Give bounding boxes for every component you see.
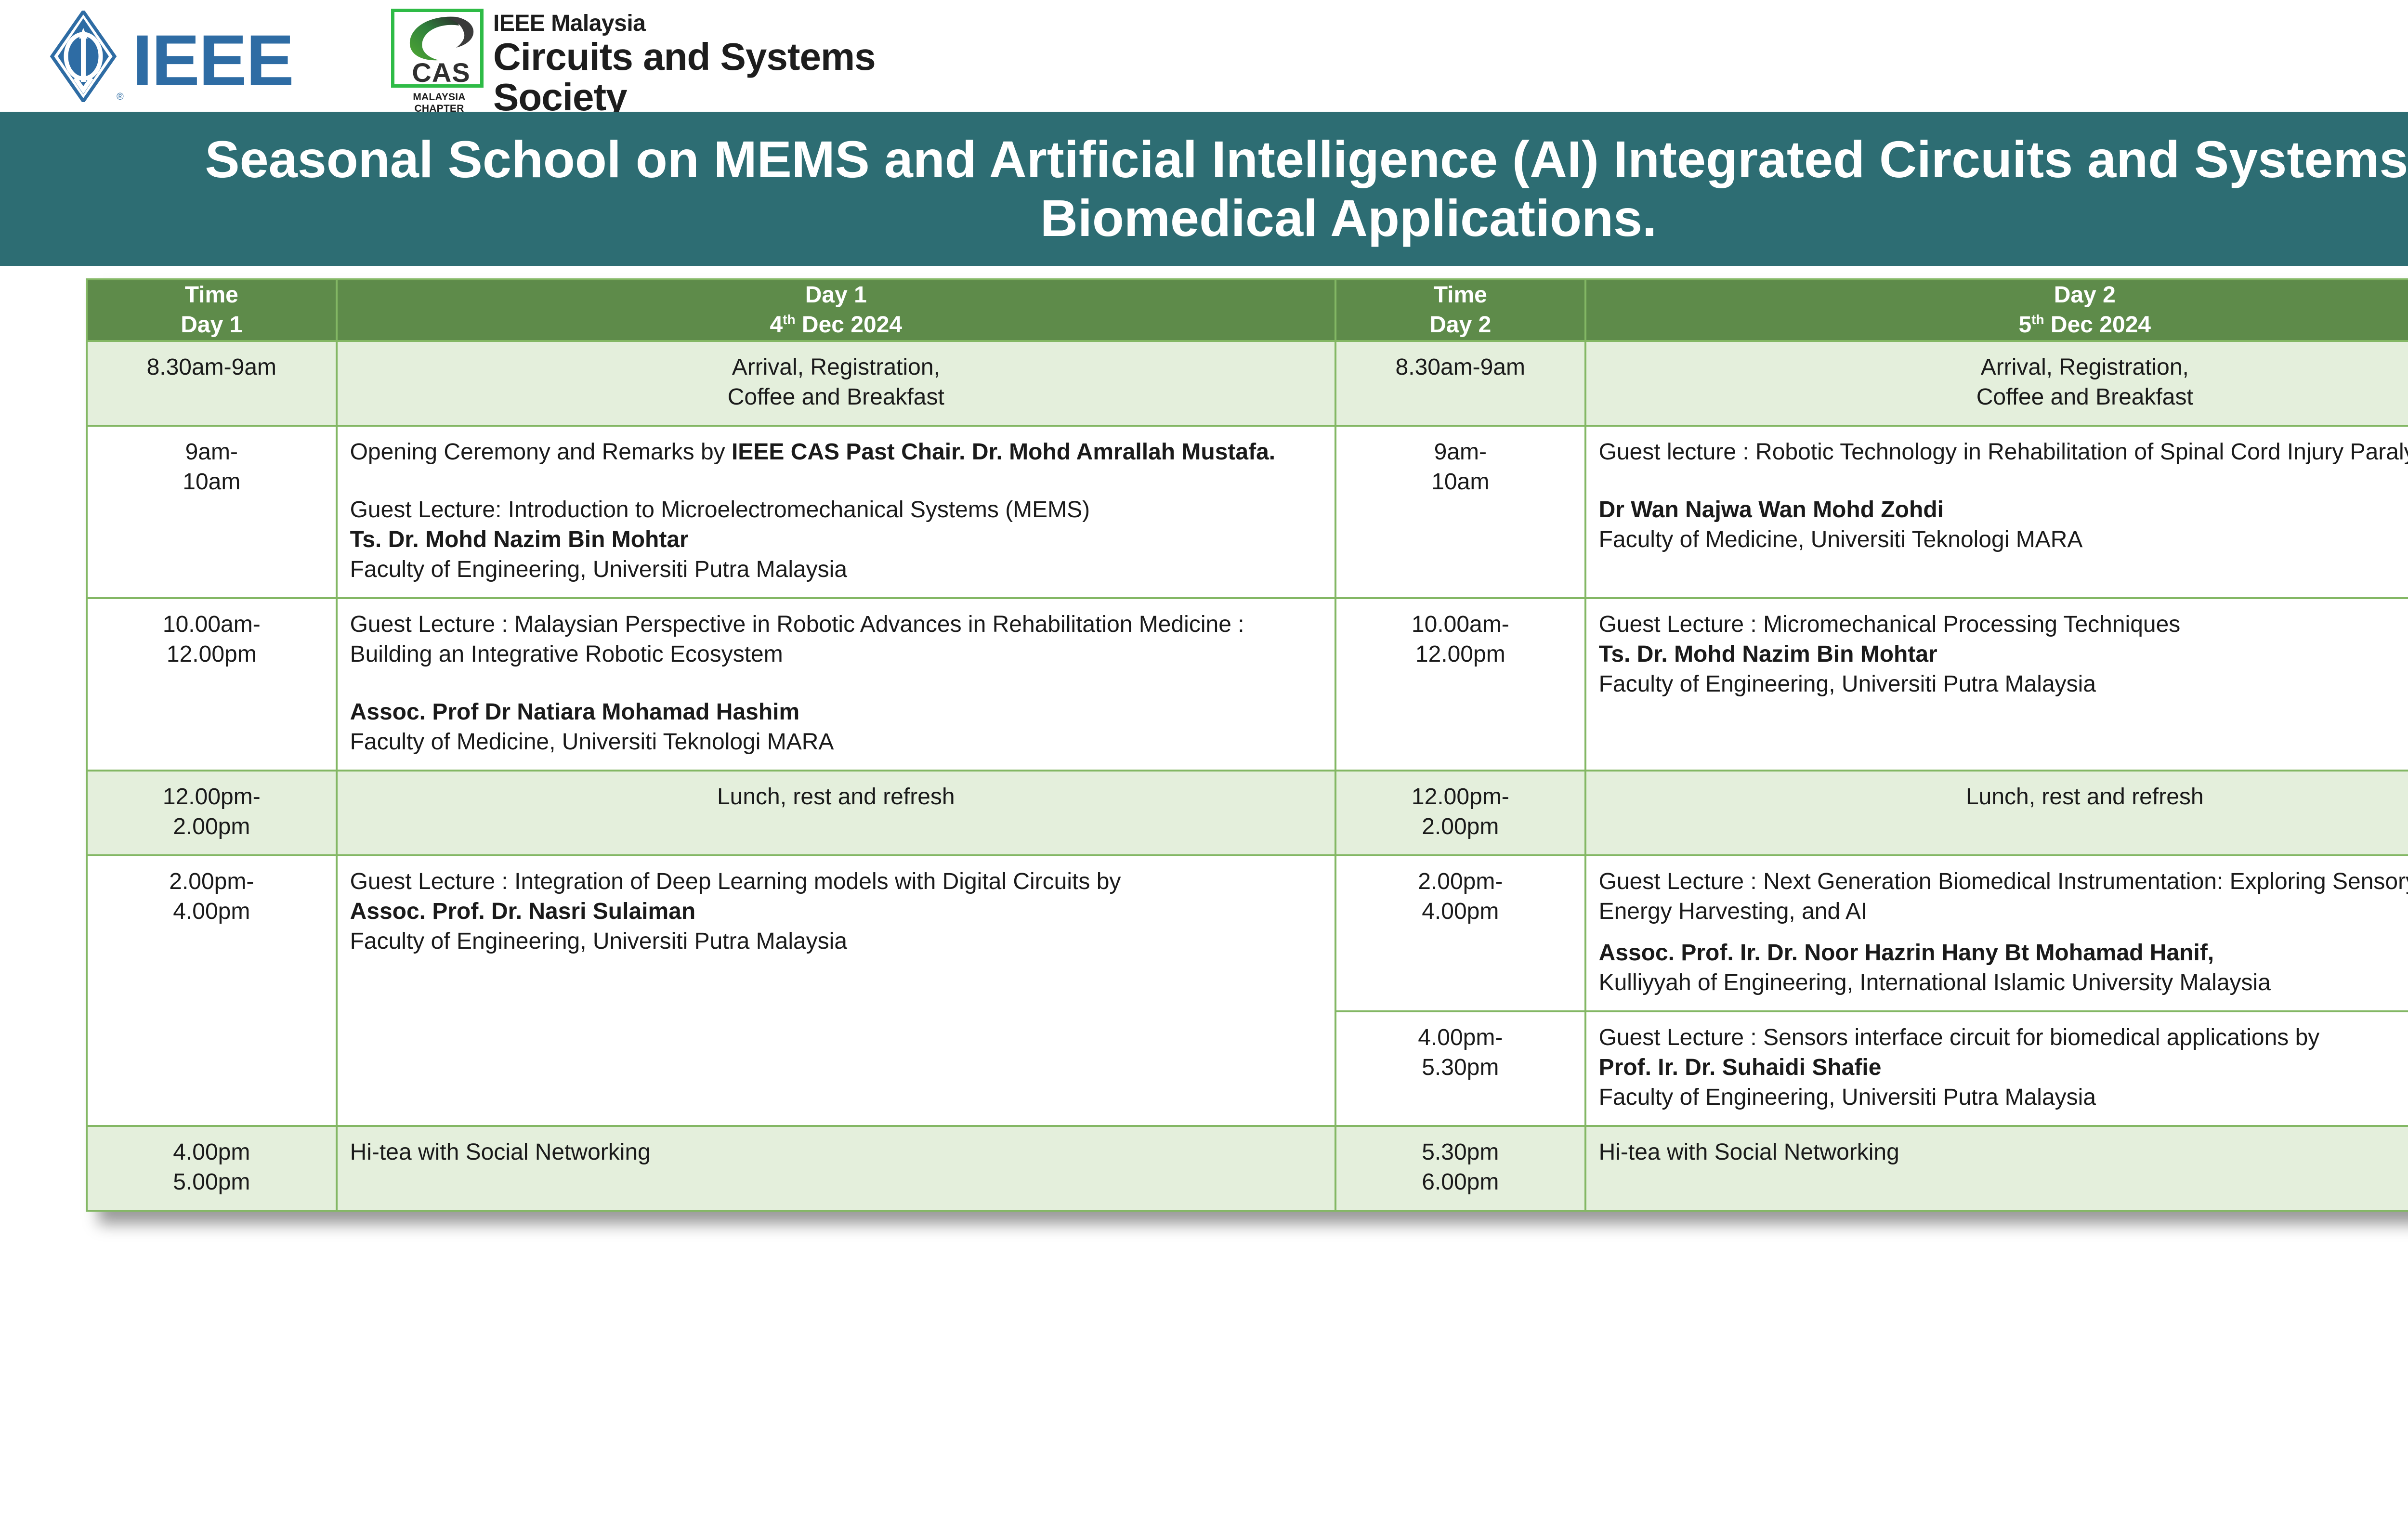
afternoon-day2-slot2-lecture-plain: Guest Lecture : Sensors interface circui… — [1599, 1025, 2320, 1050]
spacer — [350, 467, 1322, 495]
afternoon-day1-affiliation: Faculty of Engineering, Universiti Putra… — [350, 929, 847, 954]
afternoon-day2-slot2-speaker: Prof. Ir. Dr. Suhaidi Shafie — [1599, 1055, 1882, 1080]
cell-hitea-day2-body: Hi-tea with Social Networking — [1585, 1126, 2408, 1211]
cell-hitea-day1-body: Hi-tea with Social Networking — [337, 1126, 1335, 1211]
header-day2-date-num: 5 — [2018, 312, 2031, 338]
slot-9-10-day1-speaker: Ts. Dr. Mohd Nazim Bin Mohtar — [350, 527, 689, 552]
header-day1-date-rest: Dec 2024 — [796, 312, 903, 338]
cas-chapter-label: MALAYSIA CHAPTER — [391, 92, 487, 115]
spacer — [1599, 927, 2408, 938]
afternoon-day1-time-line1: 2.00pm- — [169, 869, 254, 894]
cas-logo-block: CAS MALAYSIA CHAPTER IEEE Malaysia Circu… — [391, 9, 1008, 105]
afternoon-day1-time-line2: 4.00pm — [173, 899, 250, 924]
cell-10-12-day1-time: 10.00am- 12.00pm — [87, 598, 337, 771]
opening-ceremony-speaker: IEEE CAS Past Chair. Dr. Mohd Amrallah M… — [732, 439, 1275, 465]
header-day2-date-rest: Dec 2024 — [2044, 312, 2151, 338]
slot-10-12-day2-time-line1: 10.00am- — [1412, 612, 1509, 637]
slot-9-10-day1-time: 9am- 10am — [88, 427, 336, 510]
afternoon-day2-slot2-time: 4.00pm- 5.30pm — [1336, 1012, 1584, 1095]
header-time-day1-line1: Time — [185, 282, 238, 308]
table-row-hitea: 4.00pm 5.00pm Hi-tea with Social Network… — [87, 1126, 2408, 1211]
cas-swoosh-icon — [402, 15, 479, 62]
header-time-day2-line1: Time — [1434, 282, 1487, 308]
slot-9-10-day1-lecture-title: Guest Lecture: Introduction to Microelec… — [350, 497, 1090, 523]
afternoon-day2-slot2-content: Guest Lecture : Sensors interface circui… — [1586, 1012, 2408, 1125]
table-row-9-10: 9am- 10am Opening Ceremony and Remarks b… — [87, 426, 2408, 598]
afternoon-day2-slot1-affiliation: Kulliyyah of Engineering, International … — [1599, 970, 2271, 995]
afternoon-day1-lecture-plain: Guest Lecture : Integration of Deep Lear… — [350, 869, 1121, 894]
slot-10-12-day2-time: 10.00am- 12.00pm — [1336, 599, 1584, 682]
arrival-day2-time: 8.30am-9am — [1336, 342, 1584, 395]
cell-10-12-day2-body: Guest Lecture : Micromechanical Processi… — [1585, 598, 2408, 771]
hitea-day2-time: 5.30pm 6.00pm — [1336, 1127, 1584, 1210]
table-row-arrival: 8.30am-9am Arrival, Registration, Coffee… — [87, 341, 2408, 426]
cell-9-10-day1-time: 9am- 10am — [87, 426, 337, 598]
slot-10-12-day2-time-line2: 12.00pm — [1415, 641, 1505, 667]
afternoon-day2-slot2-time-line2: 5.30pm — [1422, 1055, 1499, 1080]
arrival-day2-line2: Coffee and Breakfast — [1976, 384, 2193, 410]
arrival-day1-line1: Arrival, Registration, — [732, 354, 940, 380]
slot-9-10-day2-lecture-title: Guest lecture : Robotic Technology in Re… — [1599, 439, 2408, 465]
cell-afternoon-day2-slot1-body: Guest Lecture : Next Generation Biomedic… — [1585, 855, 2408, 1011]
slot-10-12-day1-lecture-title: Guest Lecture : Malaysian Perspective in… — [350, 612, 1244, 667]
afternoon-day2-slot1-speaker: Assoc. Prof. Ir. Dr. Noor Hazrin Hany Bt… — [1599, 940, 2214, 966]
society-line-1: IEEE Malaysia — [493, 12, 645, 36]
cell-10-12-day2-time: 10.00am- 12.00pm — [1335, 598, 1585, 771]
afternoon-day2-slot1-content: Guest Lecture : Next Generation Biomedic… — [1586, 856, 2408, 1010]
slot-9-10-day1-content: Opening Ceremony and Remarks by IEEE CAS… — [338, 427, 1335, 597]
hitea-day1-text: Hi-tea with Social Networking — [338, 1127, 1335, 1180]
spacer — [1599, 467, 2408, 495]
slot-9-10-day2-affiliation: Faculty of Medicine, Universiti Teknolog… — [1599, 527, 2083, 552]
slot-9-10-day2-time-line2: 10am — [1431, 469, 1489, 495]
afternoon-day1-time: 2.00pm- 4.00pm — [88, 856, 336, 939]
slot-9-10-day2-time-line1: 9am- — [1434, 439, 1487, 465]
arrival-day2-line1: Arrival, Registration, — [1981, 354, 2189, 380]
header-time-day1-line2: Day 1 — [181, 312, 242, 338]
ieee-diamond-icon — [38, 11, 129, 102]
lunch-day1-time: 12.00pm- 2.00pm — [88, 772, 336, 854]
cell-afternoon-day2-slot1-time: 2.00pm- 4.00pm — [1335, 855, 1585, 1011]
poster-page: IEEE ® CAS MALAYSIA CH — [0, 0, 2408, 1517]
slot-10-12-day1-affiliation: Faculty of Medicine, Universiti Teknolog… — [350, 729, 834, 755]
header-day2-date-sup: th — [2031, 312, 2044, 327]
afternoon-day2-slot1-time-line1: 2.00pm- — [1418, 869, 1503, 894]
cas-wordmark: CAS — [398, 59, 484, 86]
cell-9-10-day2-body: Guest lecture : Robotic Technology in Re… — [1585, 426, 2408, 598]
header-time-day1: Time Day 1 — [87, 279, 337, 341]
cell-afternoon-day1-body: Guest Lecture : Integration of Deep Lear… — [337, 855, 1335, 1126]
slot-10-12-day1-speaker: Assoc. Prof Dr Natiara Mohamad Hashim — [350, 699, 800, 725]
table-header-row: Time Day 1 Day 1 4th Dec 2024 Time Day 2… — [87, 279, 2408, 341]
cell-lunch-day2-body: Lunch, rest and refresh — [1585, 771, 2408, 855]
cell-afternoon-day2-slot2-time: 4.00pm- 5.30pm — [1335, 1011, 1585, 1126]
slot-9-10-day1-time-line1: 9am- — [185, 439, 238, 465]
table-row-afternoon-slot1: 2.00pm- 4.00pm Guest Lecture : Integrati… — [87, 855, 2408, 1011]
slot-9-10-day2-time: 9am- 10am — [1336, 427, 1584, 510]
cell-lunch-day1-time: 12.00pm- 2.00pm — [87, 771, 337, 855]
ieee-logo: IEEE ® — [29, 11, 356, 102]
slot-9-10-day2-content: Guest lecture : Robotic Technology in Re… — [1586, 427, 2408, 567]
society-line-2: Circuits and Systems Society — [493, 37, 1008, 118]
cell-arrival-day2-time: 8.30am-9am — [1335, 341, 1585, 426]
ieee-wordmark: IEEE — [132, 24, 293, 96]
lunch-day2-time: 12.00pm- 2.00pm — [1336, 772, 1584, 854]
header-time-day2-line2: Day 2 — [1429, 312, 1491, 338]
header-day2: Day 2 5th Dec 2024 — [1585, 279, 2408, 341]
cell-hitea-day1-time: 4.00pm 5.00pm — [87, 1126, 337, 1211]
header-time-day2: Time Day 2 — [1335, 279, 1585, 341]
header-day1: Day 1 4th Dec 2024 — [337, 279, 1335, 341]
hitea-day2-time-line2: 6.00pm — [1422, 1169, 1499, 1195]
afternoon-day2-slot1-time: 2.00pm- 4.00pm — [1336, 856, 1584, 939]
lunch-day1-text: Lunch, rest and refresh — [338, 772, 1335, 824]
table-row-10-12: 10.00am- 12.00pm Guest Lecture : Malaysi… — [87, 598, 2408, 771]
cell-hitea-day2-time: 5.30pm 6.00pm — [1335, 1126, 1585, 1211]
slot-10-12-day2-speaker: Ts. Dr. Mohd Nazim Bin Mohtar — [1599, 641, 1937, 667]
schedule-table: Time Day 1 Day 1 4th Dec 2024 Time Day 2… — [86, 278, 2408, 1212]
title-banner: Seasonal School on MEMS and Artificial I… — [0, 112, 2408, 266]
cell-arrival-day1-time: 8.30am-9am — [87, 341, 337, 426]
afternoon-day1-content: Guest Lecture : Integration of Deep Lear… — [338, 856, 1335, 969]
hitea-day2-time-line1: 5.30pm — [1422, 1139, 1499, 1165]
slot-10-12-day1-time-line1: 10.00am- — [163, 612, 261, 637]
slot-10-12-day2-affiliation: Faculty of Engineering, Universiti Putra… — [1599, 671, 2096, 697]
cell-10-12-day1-body: Guest Lecture : Malaysian Perspective in… — [337, 598, 1335, 771]
slot-10-12-day2-lecture-title: Guest Lecture : Micromechanical Processi… — [1599, 612, 2181, 637]
cell-lunch-day2-time: 12.00pm- 2.00pm — [1335, 771, 1585, 855]
header-day2-line1: Day 2 — [2054, 282, 2116, 308]
arrival-day1-time: 8.30am-9am — [88, 342, 336, 395]
header-day1-date-sup: th — [783, 312, 795, 327]
cell-9-10-day2-time: 9am- 10am — [1335, 426, 1585, 598]
header-day1-date-num: 4 — [770, 312, 783, 338]
afternoon-day2-slot2-affiliation: Faculty of Engineering, Universiti Putra… — [1599, 1085, 2096, 1110]
slot-10-12-day1-time: 10.00am- 12.00pm — [88, 599, 336, 682]
arrival-day2-text: Arrival, Registration, Coffee and Breakf… — [1586, 342, 2408, 425]
afternoon-day2-slot1-time-line2: 4.00pm — [1422, 899, 1499, 924]
lunch-day1-time-line1: 12.00pm- — [163, 784, 261, 810]
spacer — [350, 669, 1322, 697]
logo-bar: IEEE ® CAS MALAYSIA CH — [0, 0, 2408, 112]
hitea-day1-time-line2: 5.00pm — [173, 1169, 250, 1195]
hitea-day1-time-line1: 4.00pm — [173, 1139, 250, 1165]
schedule-table-wrapper: Time Day 1 Day 1 4th Dec 2024 Time Day 2… — [86, 278, 2408, 1212]
lunch-day2-time-line2: 2.00pm — [1422, 814, 1499, 839]
slot-9-10-day1-affiliation: Faculty of Engineering, Universiti Putra… — [350, 557, 847, 582]
slot-10-12-day2-content: Guest Lecture : Micromechanical Processi… — [1586, 599, 2408, 712]
ieee-registered-mark: ® — [117, 92, 124, 103]
arrival-day1-text: Arrival, Registration, Coffee and Breakf… — [338, 342, 1335, 425]
slot-10-12-day1-time-line2: 12.00pm — [167, 641, 257, 667]
afternoon-day1-speaker: Assoc. Prof. Dr. Nasri Sulaiman — [350, 899, 696, 924]
arrival-day1-line2: Coffee and Breakfast — [728, 384, 944, 410]
lunch-day1-time-line2: 2.00pm — [173, 814, 250, 839]
opening-ceremony-plain: Opening Ceremony and Remarks by — [350, 439, 732, 465]
cell-arrival-day1-body: Arrival, Registration, Coffee and Breakf… — [337, 341, 1335, 426]
cell-9-10-day1-body: Opening Ceremony and Remarks by IEEE CAS… — [337, 426, 1335, 598]
lunch-day2-text: Lunch, rest and refresh — [1586, 772, 2408, 824]
cell-lunch-day1-body: Lunch, rest and refresh — [337, 771, 1335, 855]
cell-arrival-day2-body: Arrival, Registration, Coffee and Breakf… — [1585, 341, 2408, 426]
hitea-day2-text: Hi-tea with Social Networking — [1586, 1127, 2408, 1180]
table-row-lunch: 12.00pm- 2.00pm Lunch, rest and refresh … — [87, 771, 2408, 855]
lunch-day2-time-line1: 12.00pm- — [1412, 784, 1509, 810]
cell-afternoon-day2-slot2-body: Guest Lecture : Sensors interface circui… — [1585, 1011, 2408, 1126]
header-day1-line1: Day 1 — [805, 282, 867, 308]
slot-9-10-day1-time-line2: 10am — [183, 469, 240, 495]
cas-logo-frame: CAS — [391, 9, 484, 88]
afternoon-day2-slot1-lecture-title: Guest Lecture : Next Generation Biomedic… — [1599, 869, 2408, 924]
page-title: Seasonal School on MEMS and Artificial I… — [77, 130, 2408, 248]
afternoon-day2-slot2-time-line1: 4.00pm- — [1418, 1025, 1503, 1050]
cell-afternoon-day1-time: 2.00pm- 4.00pm — [87, 855, 337, 1126]
slot-9-10-day2-speaker: Dr Wan Najwa Wan Mohd Zohdi — [1599, 497, 1944, 523]
hitea-day1-time: 4.00pm 5.00pm — [88, 1127, 336, 1210]
slot-10-12-day1-content: Guest Lecture : Malaysian Perspective in… — [338, 599, 1335, 770]
